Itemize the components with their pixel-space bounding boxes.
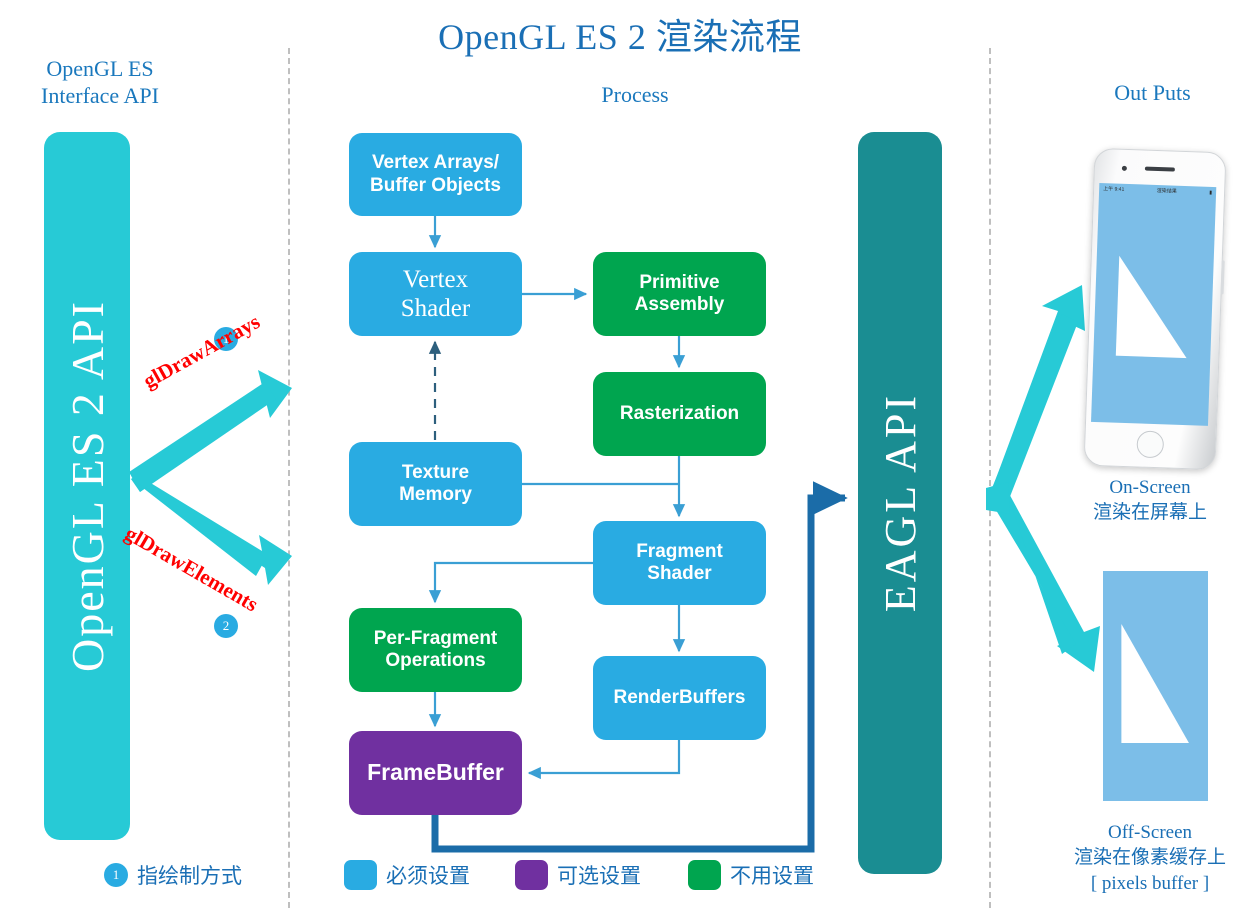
- node-label-line2: Buffer Objects: [370, 175, 501, 197]
- node-label-line1: Per-Fragment: [374, 628, 498, 650]
- iphone-screen: 上午 9:41 渲染结果 ▮: [1091, 183, 1216, 426]
- legend-item-required: 必须设置: [344, 860, 470, 890]
- node-rasterization[interactable]: Rasterization: [593, 372, 766, 456]
- draw-call-badge-2: 2: [214, 614, 238, 638]
- status-bar-title: 渲染结果: [1157, 187, 1177, 195]
- legend-swatch-blue-icon: [344, 860, 377, 890]
- node-label-line1: Rasterization: [620, 403, 739, 425]
- legend-label: 指绘制方式: [137, 860, 242, 890]
- node-label-line2: Operations: [374, 650, 498, 672]
- iphone-front-camera-icon: [1122, 166, 1127, 171]
- caption-desc: 渲染在像素缓存上: [1035, 845, 1240, 870]
- node-fragment-shader[interactable]: Fragment Shader: [593, 521, 766, 605]
- legend-label: 必须设置: [386, 860, 470, 890]
- node-texture-memory[interactable]: Texture Memory: [349, 442, 522, 526]
- node-label-line1: Fragment: [636, 541, 723, 563]
- output-arrow-joint: [986, 482, 1010, 514]
- node-primitive-assembly[interactable]: Primitive Assembly: [593, 252, 766, 336]
- caption-desc: 渲染在屏幕上: [1035, 500, 1240, 525]
- wire-renderbuffers-to-framebuffer: [529, 740, 679, 773]
- rendered-triangle-on-screen: [1114, 255, 1190, 358]
- caption-title: On-Screen: [1035, 475, 1240, 500]
- legend-item-draw-mode: 1 指绘制方式: [104, 860, 242, 890]
- node-label-line2: Assembly: [635, 294, 725, 316]
- gldrawarrays-arrow-body: [129, 382, 276, 492]
- node-framebuffer[interactable]: FrameBuffer: [349, 731, 522, 815]
- node-label-line1: RenderBuffers: [614, 687, 746, 709]
- status-bar-time: 上午 9:41: [1103, 185, 1124, 193]
- node-label-line2: Shader: [636, 563, 723, 585]
- node-vertex-arrays-buffer-objects[interactable]: Vertex Arrays/ Buffer Objects: [349, 133, 522, 216]
- node-label-line1: Vertex: [401, 265, 470, 295]
- node-vertex-shader[interactable]: Vertex Shader: [349, 252, 522, 336]
- node-label-line1: Vertex Arrays/: [370, 152, 501, 174]
- legend-item-optional: 可选设置: [515, 860, 641, 890]
- node-renderbuffers[interactable]: RenderBuffers: [593, 656, 766, 740]
- caption-on-screen: On-Screen 渲染在屏幕上: [1035, 475, 1240, 526]
- iphone-mockup: 上午 9:41 渲染结果 ▮: [1083, 148, 1226, 470]
- legend-badge-icon: 1: [104, 863, 128, 887]
- node-label-line2: Shader: [401, 294, 470, 324]
- offscreen-pixel-buffer: [1103, 571, 1208, 801]
- legend-label: 不用设置: [730, 860, 814, 890]
- wire-fragment-shader-to-per-fragment-operations: [435, 563, 593, 602]
- legend-swatch-green-icon: [688, 860, 721, 890]
- rendered-triangle-off-screen: [1120, 624, 1189, 744]
- legend-item-automatic: 不用设置: [688, 860, 814, 890]
- diagram-canvas: OpenGL ES 2 渲染流程 OpenGL ES Interface API…: [0, 0, 1240, 910]
- node-label-line1: FrameBuffer: [367, 759, 504, 786]
- battery-icon: ▮: [1209, 189, 1212, 195]
- node-label-line1: Texture: [399, 462, 472, 484]
- caption-title: Off-Screen: [1035, 820, 1240, 845]
- caption-off-screen: Off-Screen 渲染在像素缓存上 [ pixels buffer ]: [1035, 820, 1240, 896]
- node-label-line2: Memory: [399, 484, 472, 506]
- node-per-fragment-operations[interactable]: Per-Fragment Operations: [349, 608, 522, 692]
- caption-extra: [ pixels buffer ]: [1035, 871, 1240, 896]
- legend-swatch-purple-icon: [515, 860, 548, 890]
- legend-label: 可选设置: [557, 860, 641, 890]
- node-label-line1: Primitive: [635, 272, 725, 294]
